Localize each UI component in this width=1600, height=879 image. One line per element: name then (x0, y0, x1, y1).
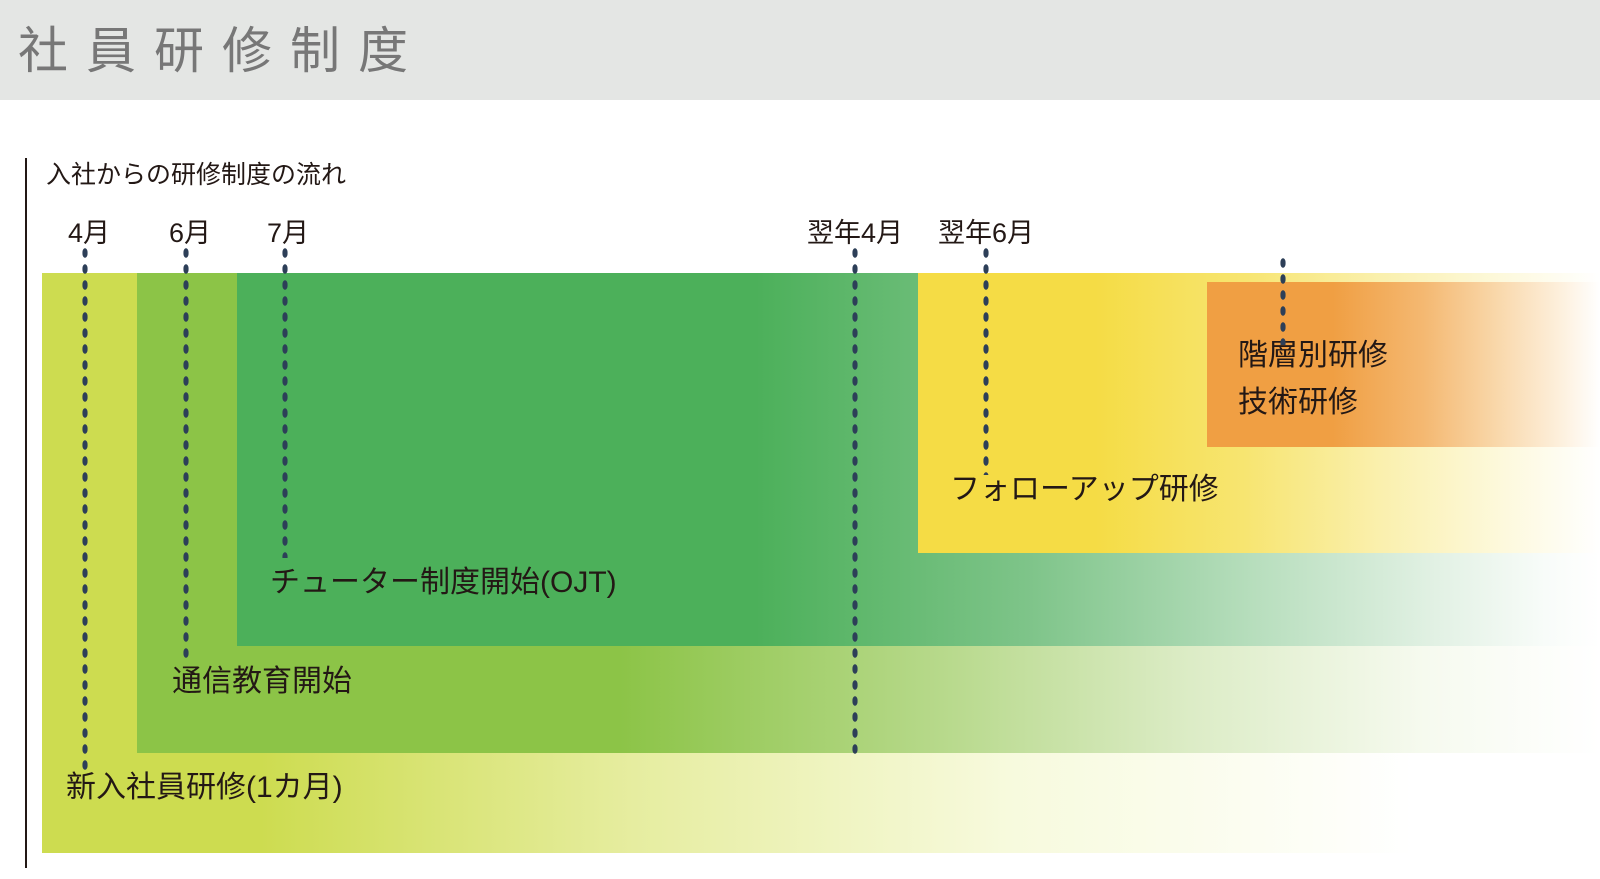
tick-label-next-june: 翌年6月 (938, 217, 1034, 249)
tick-label-next-april: 翌年4月 (807, 217, 903, 249)
timeline-chart: 入社からの研修制度の流れ 新入社員研修(1カ月) 通信教育開始 チューター制度開… (0, 100, 1600, 879)
guide-july (281, 245, 290, 558)
band-label-technical-training: 技術研修 (1238, 379, 1358, 426)
tick-label-july: 7月 (267, 217, 309, 249)
guide-june (182, 245, 191, 662)
band-label-tier-training: 階層別研修 (1238, 332, 1388, 379)
guide-next-june (982, 245, 991, 475)
chart-subtitle: 入社からの研修制度の流れ (46, 158, 346, 192)
band-label-followup-training: フォローアップ研修 (950, 470, 1219, 510)
tick-label-april: 4月 (68, 217, 110, 249)
tick-label-june: 6月 (169, 217, 211, 249)
header-band: 社員研修制度 (0, 0, 1600, 100)
page-title: 社員研修制度 (18, 22, 426, 80)
guide-tier-training (1279, 255, 1288, 345)
band-label-tutor-ojt: チューター制度開始(OJT) (270, 563, 617, 603)
slide-root: 社員研修制度 入社からの研修制度の流れ 新入社員研修(1カ月) 通信教育開始 チ… (0, 0, 1600, 879)
band-label-new-employee-training: 新入社員研修(1カ月) (66, 768, 343, 808)
band-label-correspondence-education: 通信教育開始 (172, 662, 352, 702)
guide-april (81, 245, 90, 770)
guide-next-april (851, 245, 860, 758)
vertical-axis-line (25, 158, 27, 868)
